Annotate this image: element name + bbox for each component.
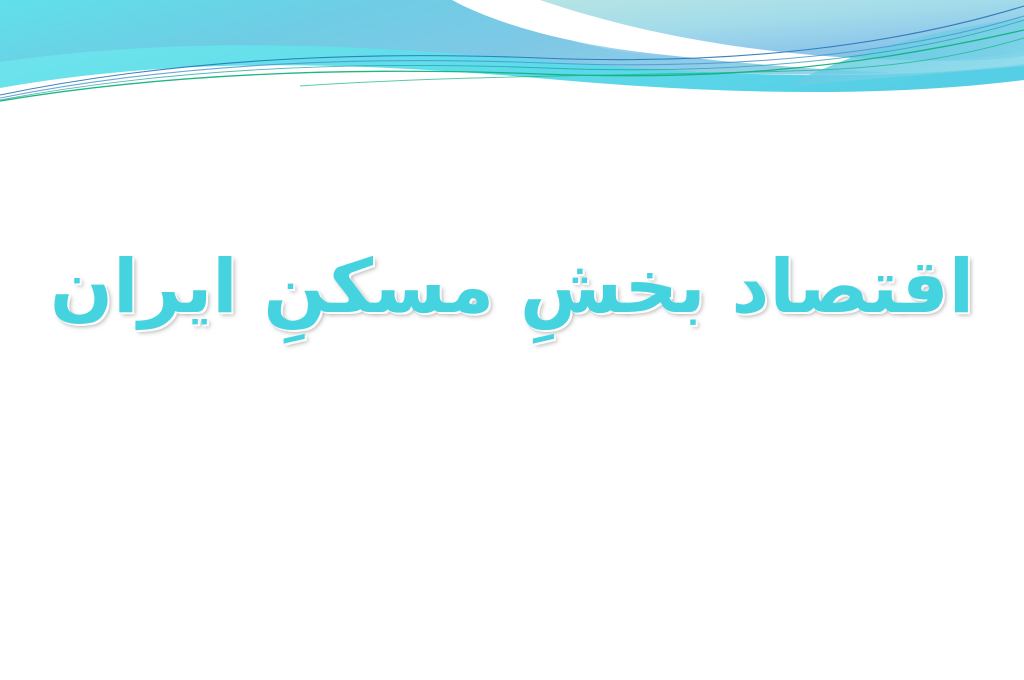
slide-title: اقتصاد بخشِ مسکنِ ایران [10,241,1014,334]
title-block: اقتصاد بخشِ مسکنِ ایران [0,0,1024,680]
slide-canvas: اقتصاد بخشِ مسکنِ ایران [0,0,1024,680]
